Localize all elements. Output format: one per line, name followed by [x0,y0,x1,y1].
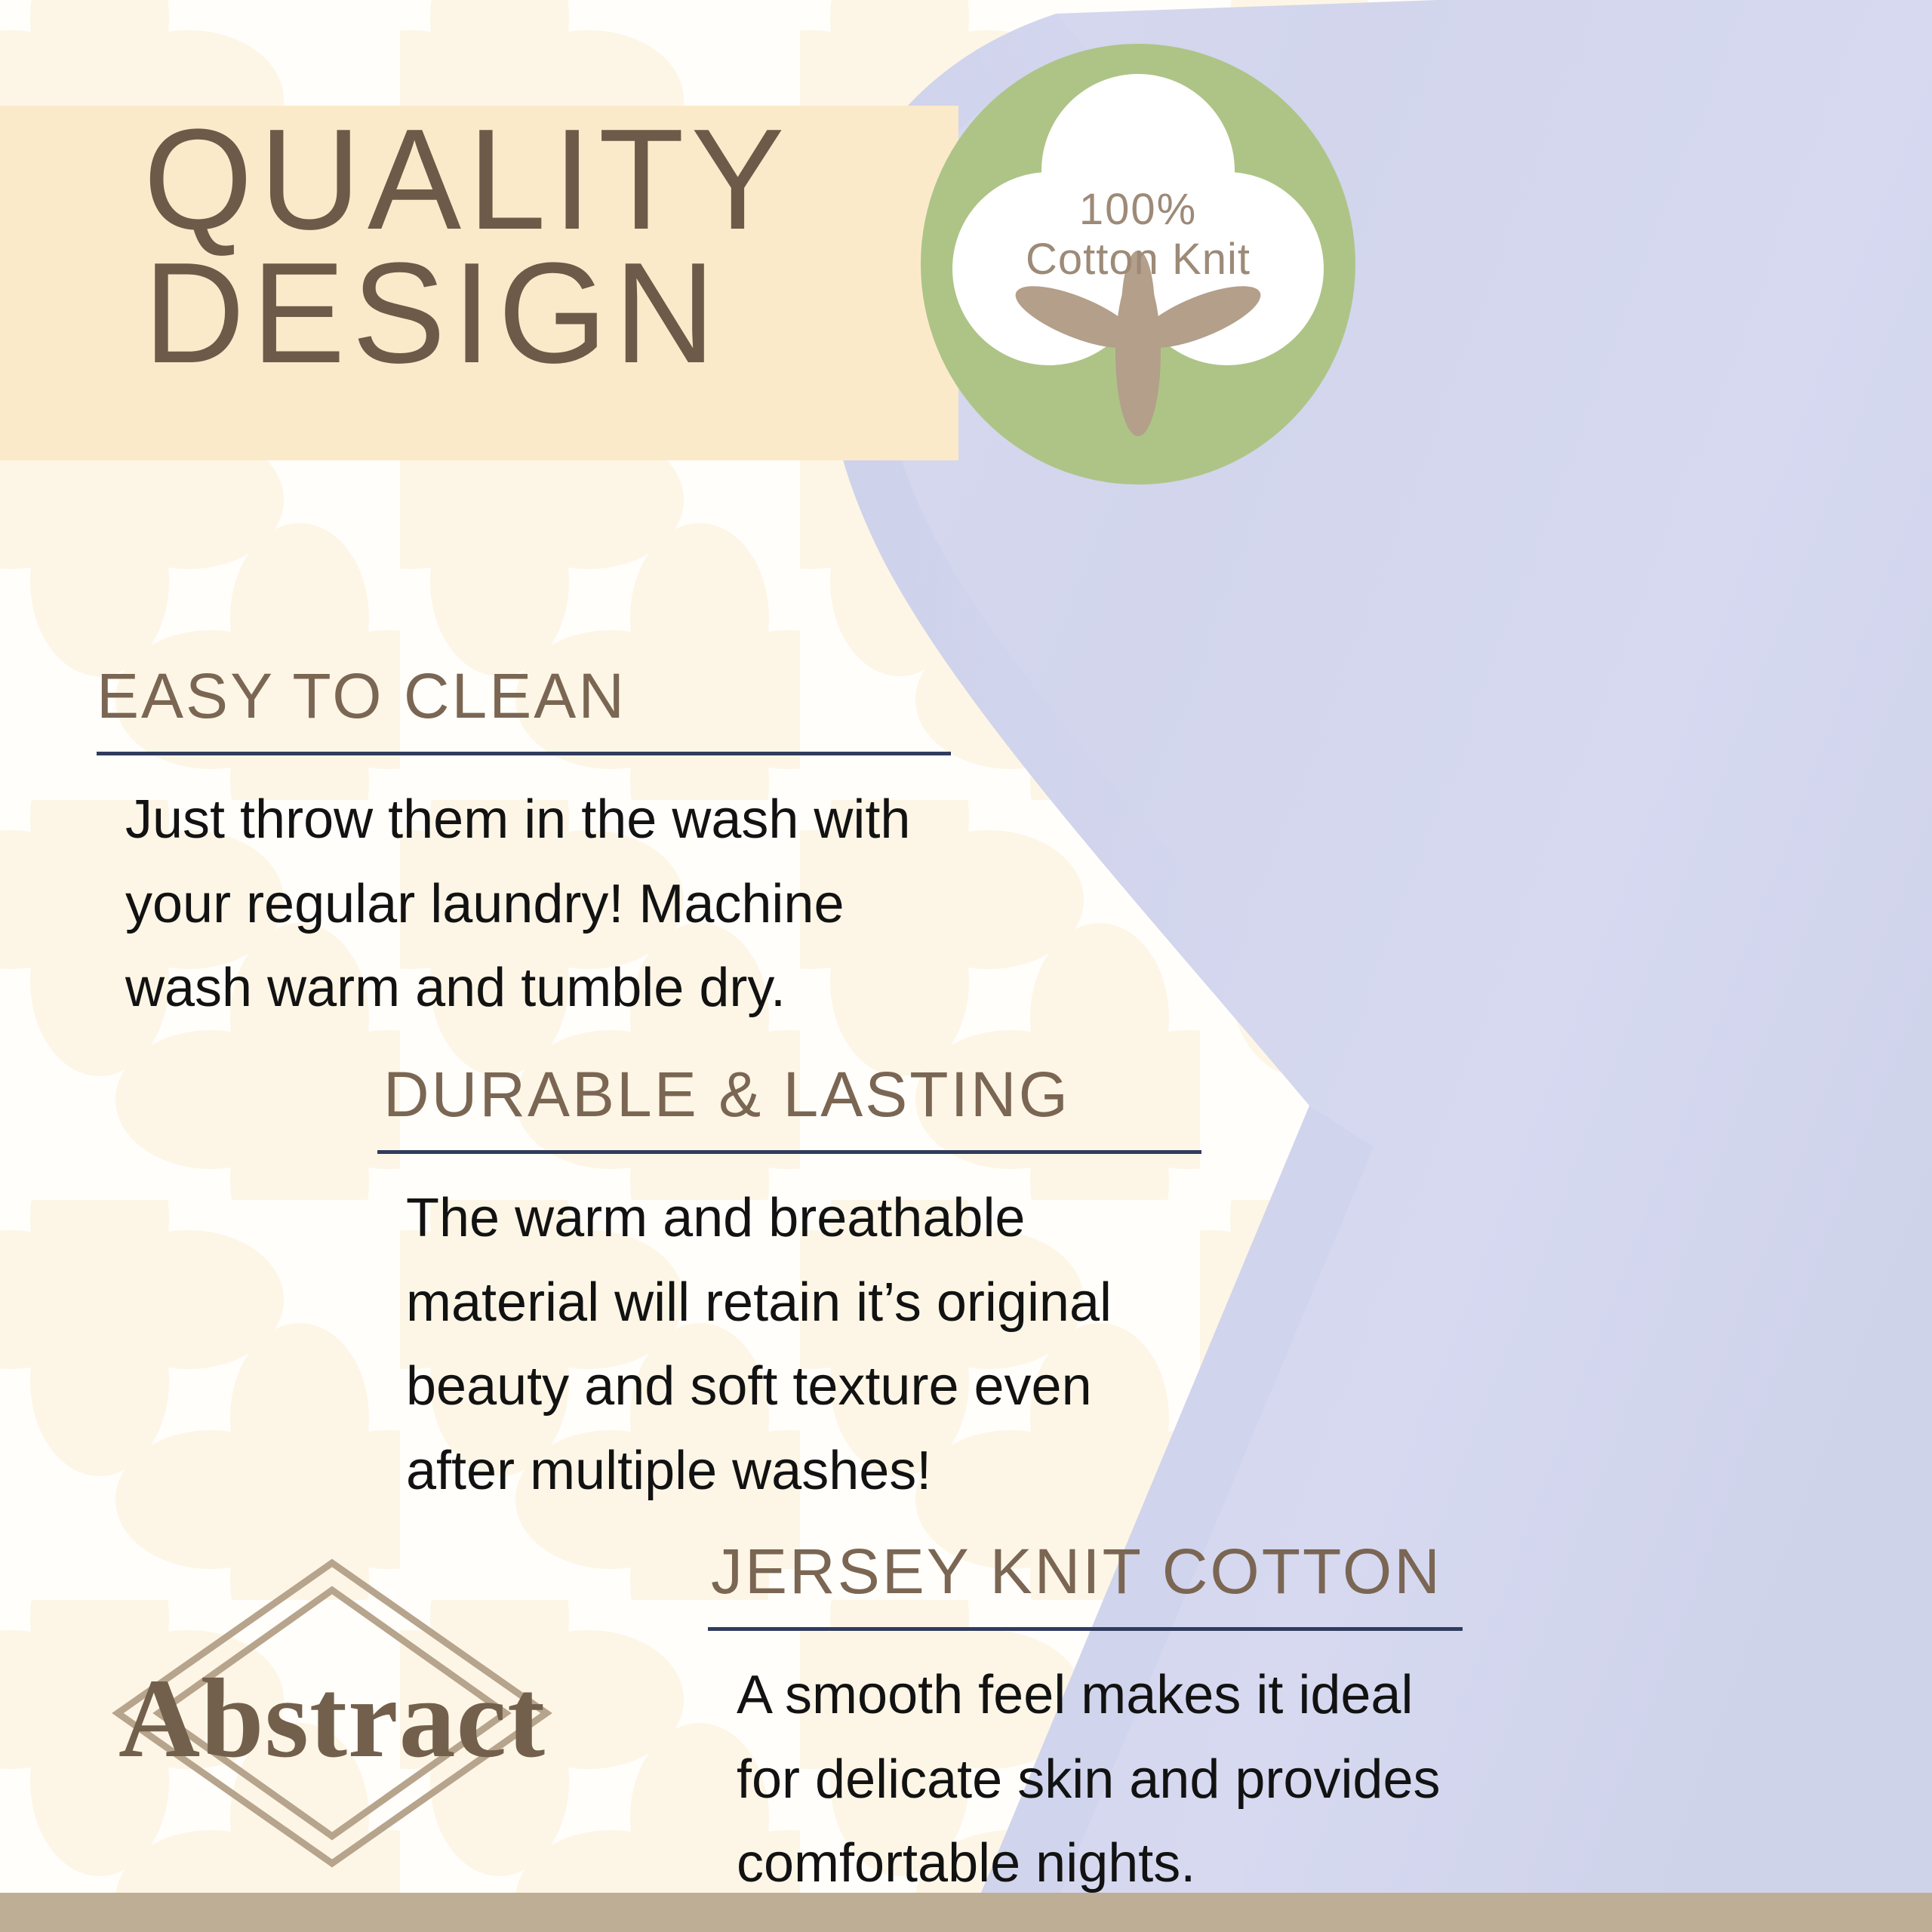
bottom-bar [0,1893,1932,1932]
feature-heading: EASY TO CLEAN [97,664,951,728]
feature-body: Just throw them in the wash with your re… [97,778,951,1031]
feature-divider [97,752,951,755]
feature-durable-lasting: DURABLE & LASTING The warm and breathabl… [377,1063,1201,1513]
page-title: QUALITY DESIGN [143,113,804,380]
infographic-canvas: QUALITY DESIGN 100% Cotton Knit [0,0,1932,1932]
brand-name: Abstract [106,1654,558,1783]
feature-body: A smooth feel makes it ideal for delicat… [708,1654,1463,1906]
title-line-1: QUALITY [143,113,791,247]
badge-percent-label: 100% [919,184,1357,235]
feature-jersey-knit-cotton: JERSEY KNIT COTTON A smooth feel makes i… [708,1540,1463,1906]
feature-heading: JERSEY KNIT COTTON [708,1540,1463,1603]
title-line-2: DESIGN [143,247,791,380]
cotton-badge: 100% Cotton Knit [919,29,1357,497]
feature-divider [708,1627,1463,1631]
feature-body: The warm and breathable material will re… [377,1177,1201,1513]
badge-material-label: Cotton Knit [919,234,1357,285]
feature-easy-to-clean: EASY TO CLEAN Just throw them in the was… [97,664,951,1031]
brand-logo: Abstract [106,1551,558,1875]
feature-heading: DURABLE & LASTING [377,1063,1201,1126]
feature-divider [377,1150,1201,1154]
